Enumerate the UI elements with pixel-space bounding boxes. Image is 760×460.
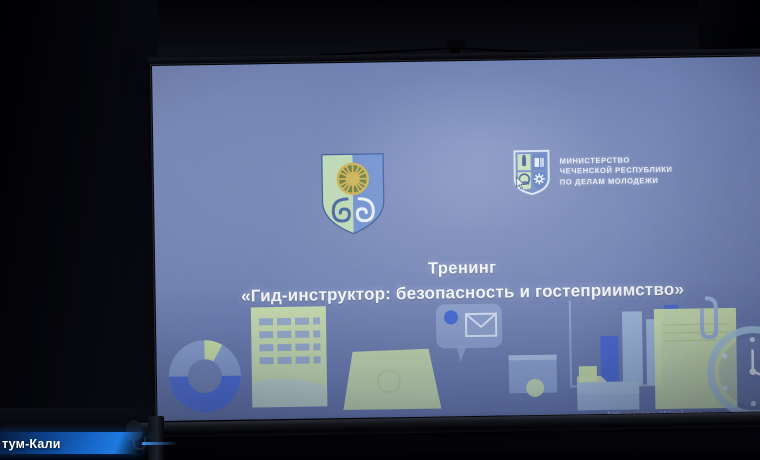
- coat-of-arms-icon: [316, 150, 389, 235]
- room-left-wall: [0, 0, 158, 460]
- foreground-pole: [148, 416, 164, 460]
- envelope-bubble-icon: [436, 304, 503, 363]
- ministry-logo: МИНИСТЕРСТВО ЧЕЧЕНСКОЙ РЕСПУБЛИКИ ПО ДЕЛ…: [511, 146, 673, 197]
- projection-screen: МИНИСТЕРСТВО ЧЕЧЕНСКОЙ РЕСПУБЛИКИ ПО ДЕЛ…: [152, 56, 760, 421]
- ministry-line-2: ЧЕЧЕНСКОЙ РЕСПУБЛИКИ: [560, 165, 673, 176]
- slide-title-line1: Тренинг: [155, 254, 760, 283]
- table-grid-icon: [251, 306, 328, 407]
- lower-third-tail: [142, 442, 179, 445]
- ministry-line-3: ПО ДЕЛАМ МОЛОДЕЖИ: [560, 176, 673, 187]
- screen-hook-bracket: [446, 40, 465, 47]
- mouse-pointer-icon: [516, 176, 525, 190]
- donut-chart-icon: [168, 340, 241, 413]
- photo-scene: МИНИСТЕРСТВО ЧЕЧЕНСКОЙ РЕСПУБЛИКИ ПО ДЕЛ…: [0, 0, 760, 460]
- book-icon: [509, 355, 558, 398]
- ministry-logo-text: МИНИСТЕРСТВО ЧЕЧЕНСКОЙ РЕСПУБЛИКИ ПО ДЕЛ…: [559, 154, 672, 187]
- lower-third-text: тум-Кали: [2, 437, 132, 451]
- laptop-icon: [342, 349, 441, 411]
- slide-illustration: [156, 279, 760, 421]
